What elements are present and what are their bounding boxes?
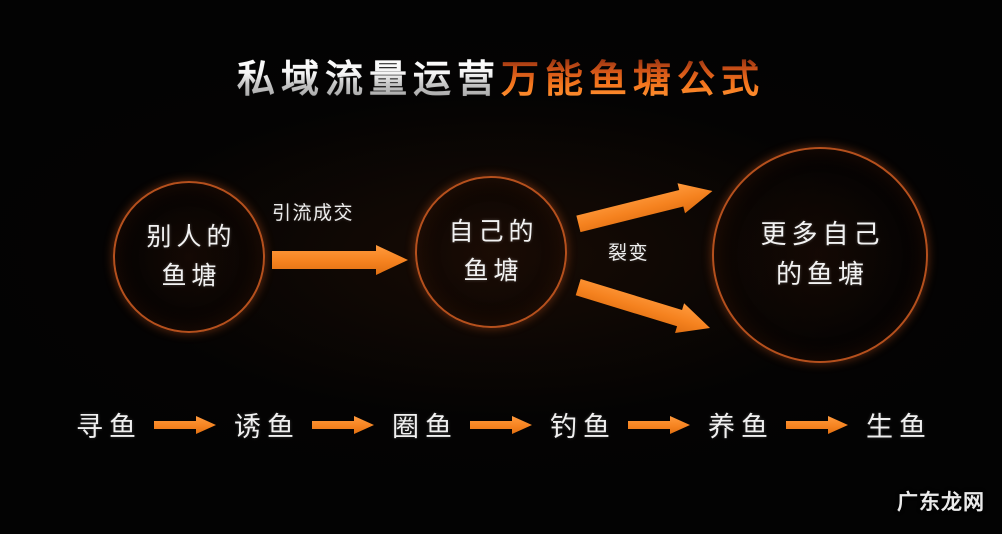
page-title-highlight: 万能鱼塘公式: [501, 57, 765, 101]
arrow-right-icon-5: [786, 415, 848, 435]
node-label-line2: 鱼塘: [458, 252, 523, 291]
chain-step-5: 养鱼: [702, 405, 774, 444]
arrow-right-icon-flow-deal: [272, 245, 408, 279]
arrow-right-icon-3: [470, 415, 532, 435]
slide-canvas: 私域流量运营万能鱼塘公式 别人的 鱼塘 自己的 鱼塘 更多自己 的鱼塘 引流成交: [0, 0, 1002, 534]
diagram-node-more-own-ponds[interactable]: 更多自己 的鱼塘: [712, 147, 928, 363]
watermark: 广东龙网: [897, 486, 985, 516]
arrow-up-right-icon-fission: [578, 173, 718, 233]
node-label-line2: 鱼塘: [156, 257, 221, 296]
node-label-line1: 更多自己: [755, 215, 884, 255]
arrow-right-icon-2: [312, 415, 374, 435]
edge-label-fission: 裂变: [608, 238, 649, 265]
arrow-right-icon-1: [154, 415, 216, 435]
process-chain: 寻鱼 诱鱼 圈鱼 钓鱼: [0, 405, 1002, 444]
edge-label-flow-deal: 引流成交: [272, 198, 354, 225]
chain-step-3: 圈鱼: [386, 405, 458, 444]
diagram-node-own-pond[interactable]: 自己的 鱼塘: [415, 176, 567, 328]
arrow-down-right-icon-fission: [578, 279, 718, 341]
chain-step-2: 诱鱼: [228, 405, 300, 444]
node-label-line1: 自己的: [443, 213, 538, 252]
arrow-right-icon-4: [628, 415, 690, 435]
chain-step-6: 生鱼: [860, 405, 932, 444]
node-label-line1: 别人的: [141, 218, 236, 257]
chain-step-1: 寻鱼: [70, 405, 142, 444]
page-title: 私域流量运营万能鱼塘公式: [0, 57, 1002, 103]
diagram-node-others-pond[interactable]: 别人的 鱼塘: [113, 181, 265, 333]
node-label-line2: 的鱼塘: [771, 255, 869, 295]
page-title-primary: 私域流量运营: [237, 57, 501, 101]
chain-step-4: 钓鱼: [544, 405, 616, 444]
